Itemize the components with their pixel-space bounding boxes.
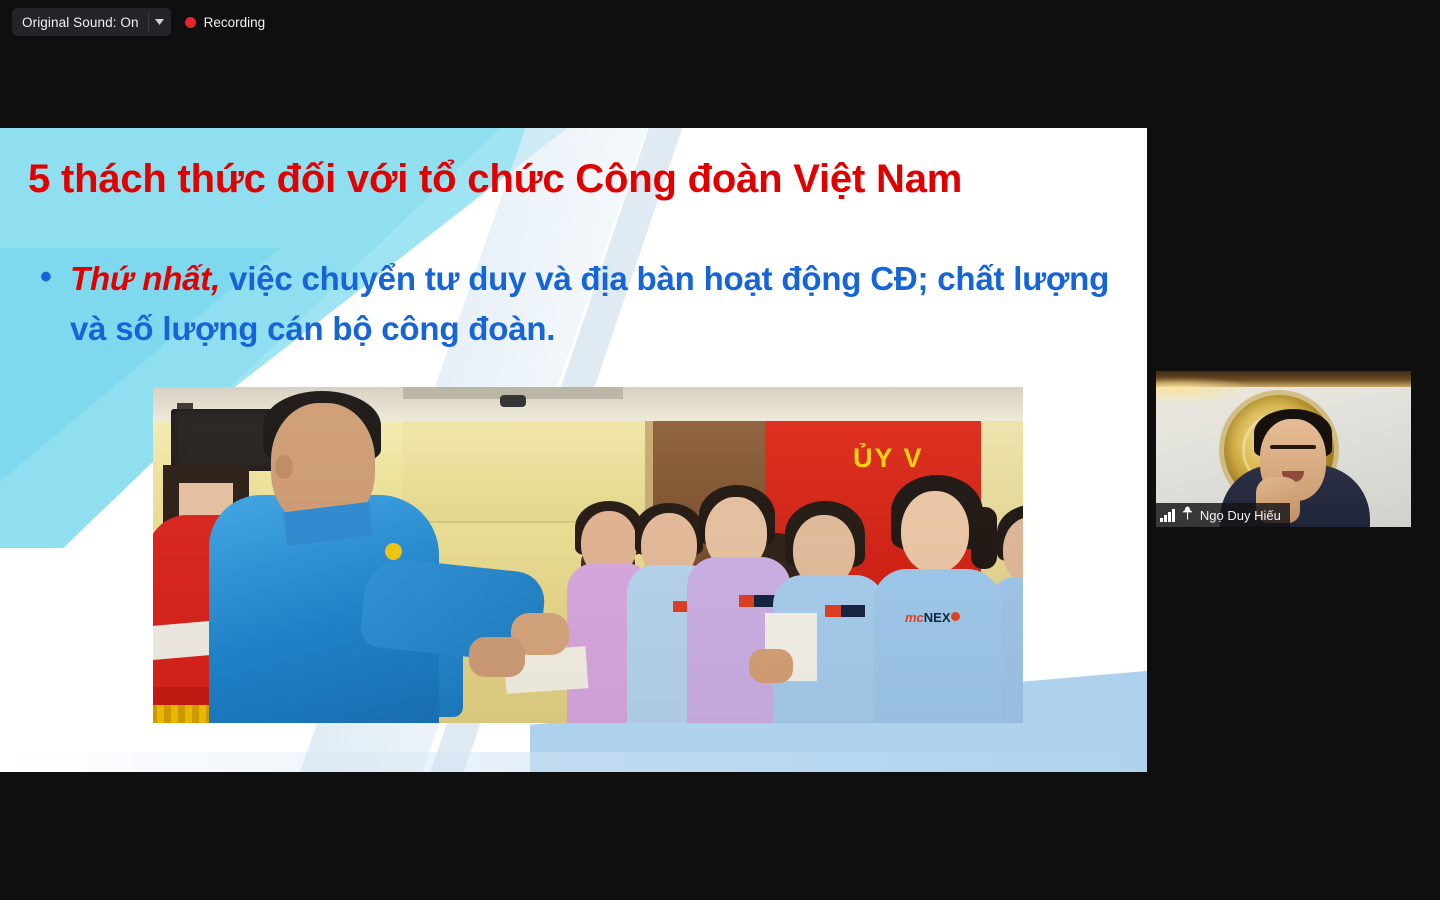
slide-title: 5 thách thức đối với tổ chức Công đoàn V… <box>28 156 1128 202</box>
zoom-meeting-window: Original Sound: On Recording 5 thách thứ… <box>0 0 1440 900</box>
recording-indicator[interactable]: Recording <box>185 15 266 30</box>
meeting-toolbar: Original Sound: On Recording <box>0 0 1440 44</box>
photo-overlay <box>153 387 1023 723</box>
bullet-lead-text: Thứ nhất, <box>70 260 220 297</box>
slide-photo: ỦY V <box>153 387 1023 723</box>
signal-strength-icon <box>1160 509 1175 522</box>
slide-bullet-item: • Thứ nhất, việc chuyển tư duy và địa bà… <box>22 254 1127 354</box>
original-sound-label: Original Sound: On <box>12 8 148 36</box>
participant-name: Ngọ Duy Hiếu <box>1200 508 1281 523</box>
video-light-glow <box>1155 377 1256 403</box>
participant-video-tile[interactable]: Ngọ Duy Hiếu <box>1155 370 1412 528</box>
original-sound-button[interactable]: Original Sound: On <box>12 8 171 36</box>
recording-label: Recording <box>204 15 266 30</box>
slide-bullet-text: Thứ nhất, việc chuyển tư duy và địa bàn … <box>70 254 1127 354</box>
participant-brow <box>1270 445 1316 449</box>
bg-shape-blue-floor-strip <box>0 752 1147 772</box>
shared-slide[interactable]: 5 thách thức đối với tổ chức Công đoàn V… <box>0 128 1147 772</box>
pin-icon[interactable] <box>1181 506 1194 525</box>
bullet-body-text: việc chuyển tư duy và địa bàn hoạt động … <box>70 260 1109 347</box>
participant-name-bar: Ngọ Duy Hiếu <box>1156 503 1290 527</box>
bullet-marker-icon: • <box>22 254 70 300</box>
recording-dot-icon <box>185 17 196 28</box>
chevron-down-icon[interactable] <box>149 8 171 36</box>
